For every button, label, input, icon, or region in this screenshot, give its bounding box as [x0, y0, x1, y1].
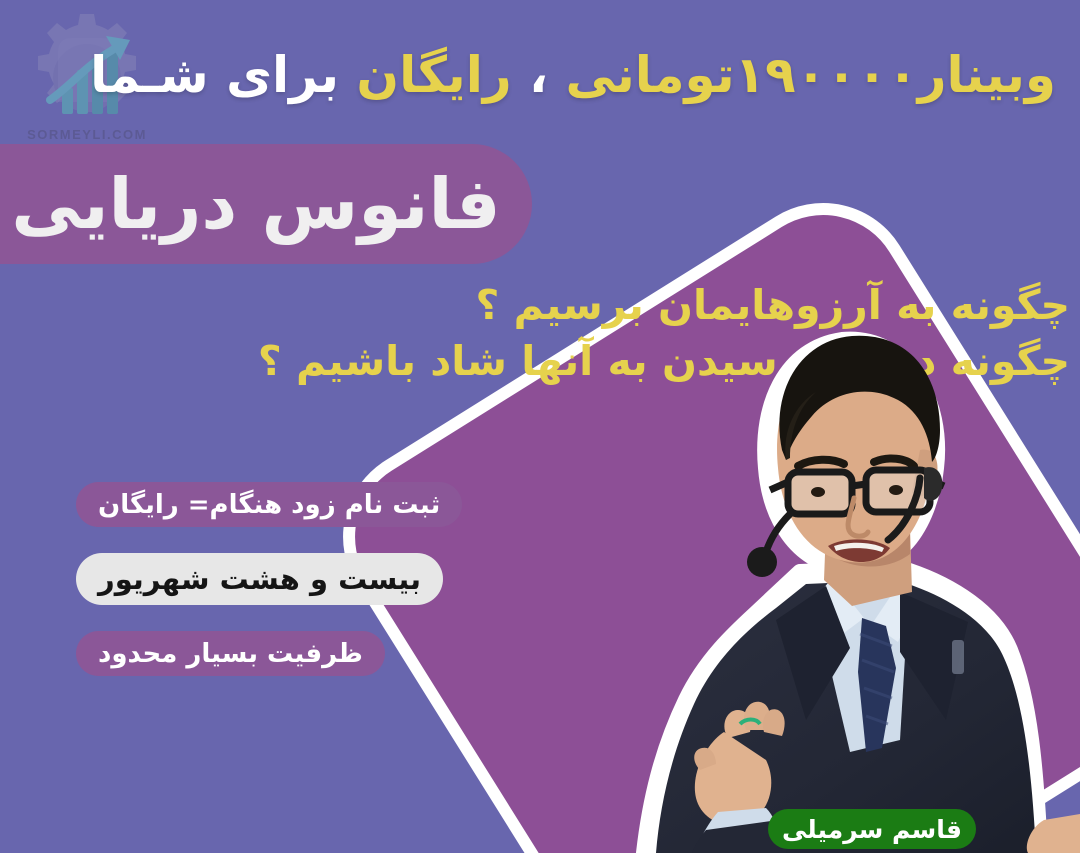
brand-site-text: SORMEYLI.COM	[14, 127, 160, 142]
badge-early-registration: ثبت نام زود هنگام= رایگان	[76, 482, 462, 527]
info-badge-row: ظرفیت بسیار محدود	[76, 631, 406, 676]
info-badges: ثبت نام زود هنگام= رایگان بیست و هشت شهر…	[76, 482, 406, 676]
info-badge-row: ثبت نام زود هنگام= رایگان	[76, 482, 406, 527]
badge-limited-capacity: ظرفیت بسیار محدود	[76, 631, 385, 676]
badge-event-date: بیست و هشت شهریور	[76, 553, 443, 605]
speaker-name-badge: قاسم سرمیلی	[768, 809, 976, 849]
mic-capsule	[747, 547, 777, 577]
info-badge-row: بیست و هشت شهریور	[76, 553, 406, 605]
headline: وبینار۱۹۰۰۰۰تومانی ، رایگان برای شـما	[126, 44, 1056, 107]
title-pill: فانوس دریایی	[0, 144, 532, 264]
speaker-portrait-illustration	[600, 300, 1080, 853]
headline-free-word: رایگان	[356, 46, 511, 104]
page-title: فانوس دریایی	[11, 163, 500, 245]
headline-amount: وبینار۱۹۰۰۰۰تومانی	[565, 46, 1056, 104]
speaker-name: قاسم سرمیلی	[782, 815, 962, 844]
webinar-poster: SORMEYLI.COM وبینار۱۹۰۰۰۰تومانی ، رایگان…	[0, 0, 1080, 853]
speaker-photo	[600, 300, 1080, 853]
headline-tail: برای شـما	[90, 46, 356, 104]
headline-separator: ،	[512, 46, 566, 104]
